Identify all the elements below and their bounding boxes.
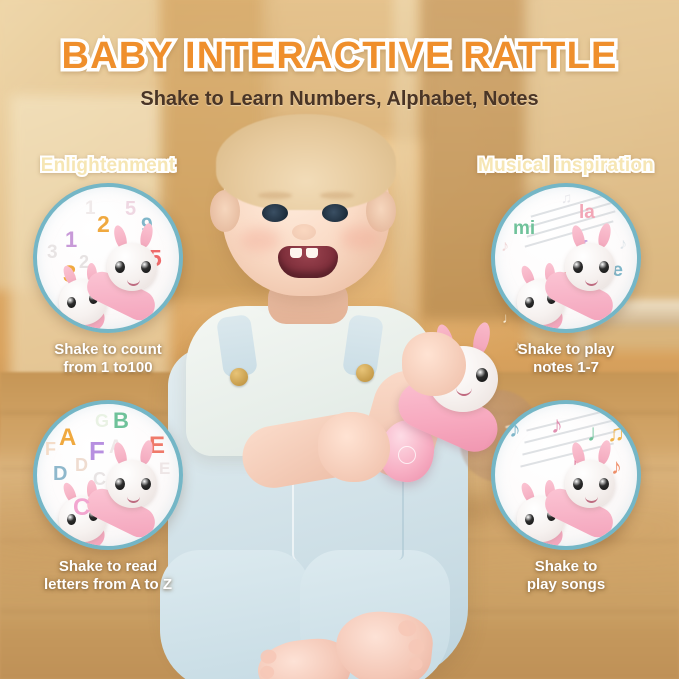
- music-note-icon: ♫: [561, 191, 572, 206]
- overalls-button-right: [356, 364, 374, 382]
- letter-glyph: G: [95, 412, 109, 430]
- baby-blush-left: [240, 228, 280, 252]
- letter-glyph: C: [73, 496, 90, 520]
- music-note-icon: ♪: [509, 418, 521, 442]
- baby-eye-left: [262, 204, 288, 222]
- feature-enlightenment: Enlightenment 1 2 5 9 1 3 2 3 5 Shake to…: [8, 155, 208, 376]
- letter-glyph: B: [113, 410, 129, 432]
- feature-category-label: Enlightenment: [8, 155, 208, 177]
- overalls-button-left: [230, 368, 248, 386]
- feature-caption: Shake to count from 1 to100: [8, 341, 208, 376]
- rattle-toy-button: [398, 446, 416, 464]
- music-note-icon: ♪: [551, 414, 563, 438]
- feature-caption: Shake to play songs: [466, 558, 666, 593]
- product-infographic: ♪ ♫ ♩ BABY INTERACTIVE RATTLE Shake to L…: [0, 0, 679, 679]
- baby-hair: [216, 114, 396, 210]
- feature-alphabet: A B G E F A F D C E D C Shake to read le…: [8, 400, 208, 593]
- feature-musical-inspiration: Musical inspiration mi la fa re do ♪ ♪ ♫…: [466, 155, 666, 376]
- baby-eye-right: [322, 204, 348, 222]
- feature-caption: Shake to read letters from A to Z: [8, 558, 208, 593]
- feature-bubble-enlightenment: 1 2 5 9 1 3 2 3 5: [33, 183, 183, 333]
- feature-caption: Shake to play notes 1-7: [466, 341, 666, 376]
- feature-category-label: Musical inspiration: [466, 155, 666, 177]
- baby-blush-right: [340, 226, 380, 250]
- number-glyph: 1: [85, 199, 96, 218]
- feature-bubble-songs: ♪ ♪ ♩ ♫ ♪ ♪: [491, 400, 641, 550]
- feature-bubble-alphabet: A B G E F A F D C E D C: [33, 400, 183, 550]
- baby-hand-left: [318, 412, 390, 482]
- letter-glyph: A: [59, 426, 76, 450]
- rattle-toy-illustration: [513, 452, 625, 548]
- baby-tooth: [290, 248, 302, 258]
- baby-tooth: [306, 248, 318, 258]
- number-glyph: 2: [97, 213, 110, 236]
- music-note-icon: ♪: [501, 239, 509, 255]
- solfege-glyph: la: [579, 203, 595, 222]
- page-subtitle: Shake to Learn Numbers, Alphabet, Notes: [0, 88, 679, 111]
- rattle-toy-illustration: [55, 235, 167, 331]
- rattle-toy-illustration: [513, 235, 625, 331]
- rattle-toy-illustration: [55, 452, 167, 548]
- baby-brow-left: [258, 192, 292, 199]
- baby-nose: [292, 224, 316, 240]
- baby-brow-right: [320, 192, 354, 199]
- feature-bubble-musical: mi la fa re do ♪ ♪ ♫: [491, 183, 641, 333]
- baby-hand-right: [402, 332, 466, 396]
- number-glyph: 5: [125, 199, 136, 219]
- page-title: BABY INTERACTIVE RATTLE: [0, 35, 679, 78]
- feature-songs: ♪ ♪ ♩ ♫ ♪ ♪ Shake to play songs: [466, 400, 666, 593]
